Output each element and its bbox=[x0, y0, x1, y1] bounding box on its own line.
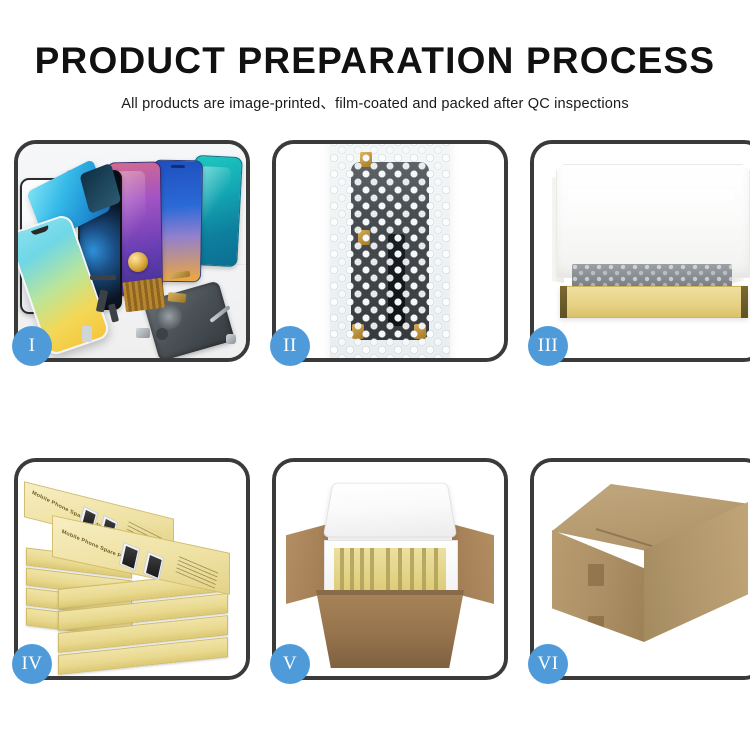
retail-box-thumb-front-b bbox=[143, 551, 165, 580]
carton-body bbox=[316, 590, 464, 668]
step-badge-1: I bbox=[12, 326, 52, 366]
step-3-photo bbox=[534, 144, 750, 358]
box-edge-3 bbox=[360, 548, 364, 590]
box-edge-4 bbox=[370, 548, 374, 590]
process-step-6[interactable]: VI bbox=[530, 458, 750, 680]
process-step-5[interactable]: V bbox=[272, 458, 508, 680]
carton-tape-upper bbox=[588, 564, 604, 586]
white-foam-sheet bbox=[568, 190, 734, 260]
small-part-sim-tray bbox=[82, 326, 92, 342]
step-6-photo bbox=[534, 462, 750, 676]
small-part-button bbox=[156, 328, 168, 340]
step-badge-6: VI bbox=[528, 644, 568, 684]
step-badge-4: IV bbox=[12, 644, 52, 684]
box-edge-9 bbox=[434, 548, 438, 590]
step-5-photo bbox=[276, 462, 504, 676]
page-title: PRODUCT PREPARATION PROCESS bbox=[0, 0, 750, 81]
small-part-gold-connector bbox=[168, 292, 187, 303]
box-edge-2 bbox=[350, 548, 354, 590]
speaker-module-icon bbox=[128, 252, 148, 272]
step-badge-5: V bbox=[270, 644, 310, 684]
step-1-photo bbox=[18, 144, 246, 358]
step-badge-2: II bbox=[270, 326, 310, 366]
box-edge-7 bbox=[410, 548, 414, 590]
process-step-grid: I II III bbox=[14, 140, 736, 680]
page-header: PRODUCT PREPARATION PROCESS All products… bbox=[0, 0, 750, 113]
yellow-boxes-inside bbox=[334, 548, 446, 590]
step-4-photo: Mobile Phone Spare Parts Mobile Phone Sp… bbox=[18, 462, 246, 676]
retail-box-thumb-front-a bbox=[119, 542, 141, 571]
box-edge-8 bbox=[422, 548, 426, 590]
bubble-wrap-bag bbox=[330, 144, 450, 358]
process-step-3[interactable]: III bbox=[530, 140, 750, 362]
process-step-2[interactable]: II bbox=[272, 140, 508, 362]
box-edge-1 bbox=[340, 548, 344, 590]
gold-connector-grid bbox=[122, 278, 165, 313]
foam-cooler-lid bbox=[323, 483, 457, 538]
process-step-4[interactable]: Mobile Phone Spare Parts Mobile Phone Sp… bbox=[14, 458, 250, 680]
step-2-photo bbox=[276, 144, 504, 358]
page-subtitle: All products are image-printed、film-coat… bbox=[0, 81, 750, 113]
retail-box-spec-lines-front bbox=[176, 555, 219, 588]
process-step-1[interactable]: I bbox=[14, 140, 250, 362]
small-part-silver-clip bbox=[136, 328, 150, 338]
yellow-box-front bbox=[560, 286, 748, 318]
box-edge-6 bbox=[398, 548, 402, 590]
small-part-strip bbox=[90, 275, 116, 280]
bubble-texture bbox=[330, 144, 450, 358]
small-part-screw bbox=[226, 334, 236, 344]
step-badge-3: III bbox=[528, 326, 568, 366]
box-edge-5 bbox=[386, 548, 390, 590]
